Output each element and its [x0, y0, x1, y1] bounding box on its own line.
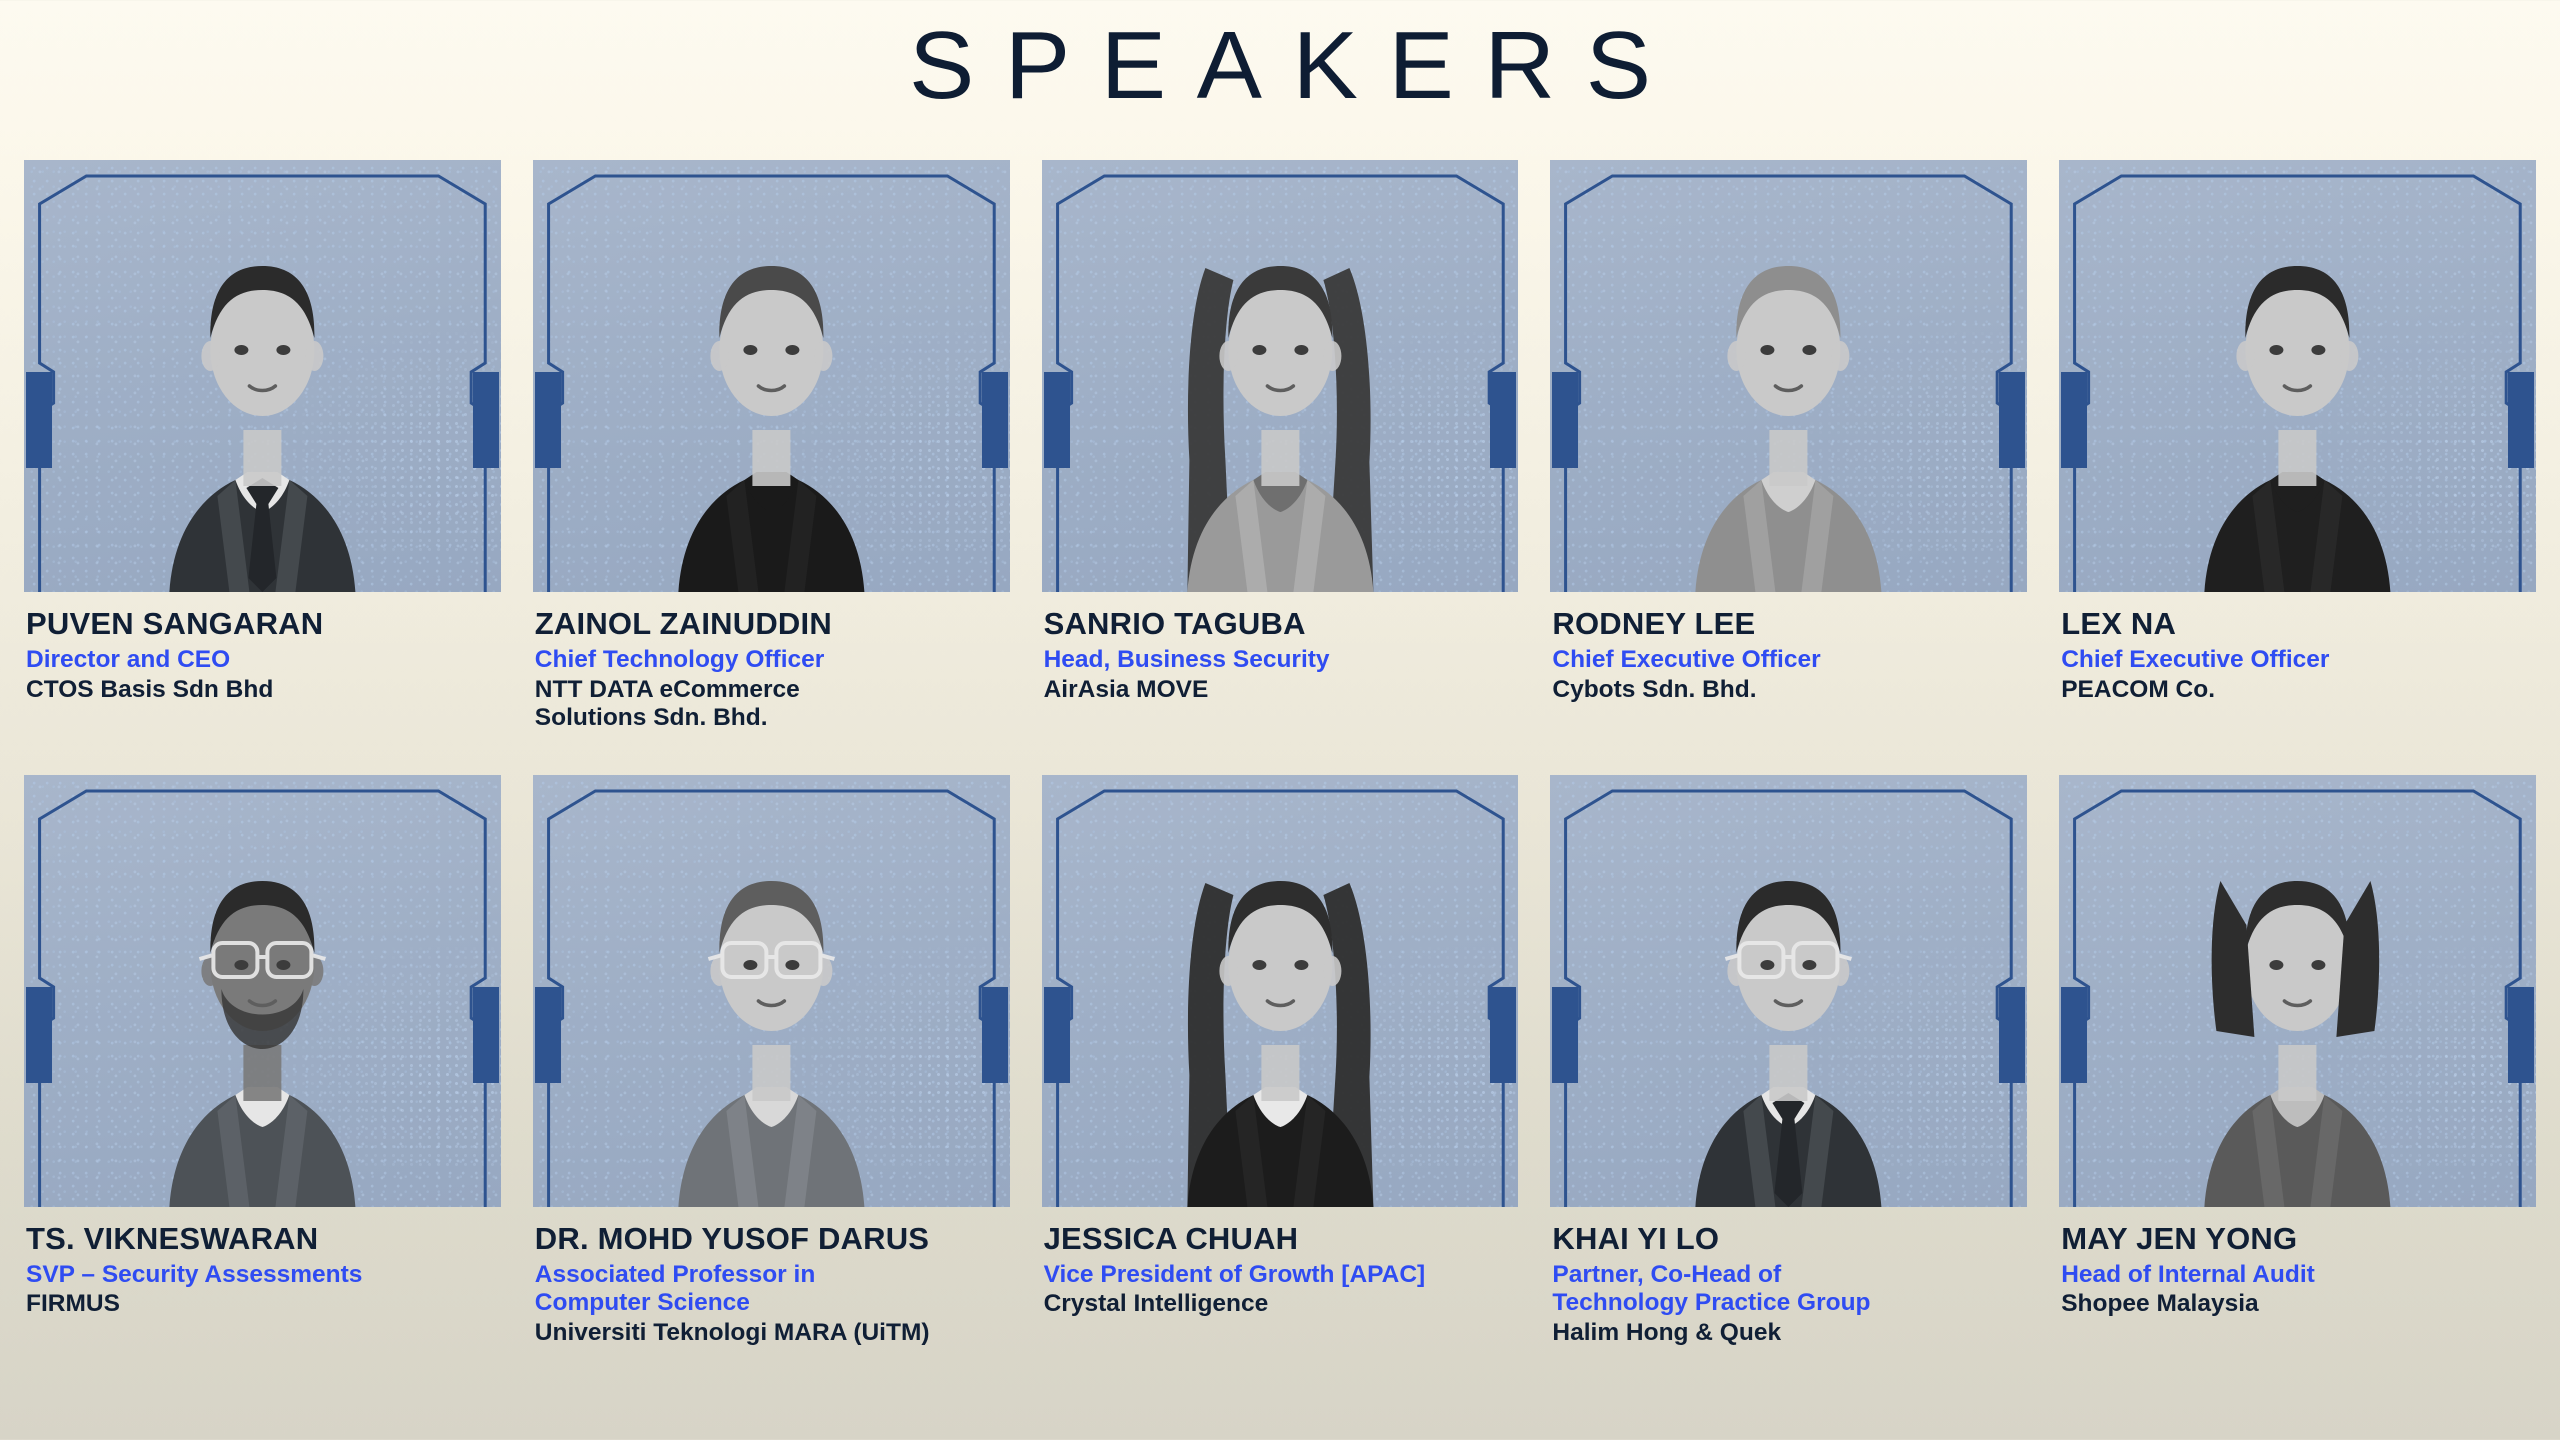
speaker-name: SANRIO TAGUBA: [1044, 608, 1517, 641]
speaker-role: Director and CEO: [26, 646, 499, 675]
accent-bar-left: [1044, 987, 1070, 1083]
speaker-organisation: CTOS Basis Sdn Bhd: [26, 676, 499, 705]
speaker-portrait-image: [24, 160, 501, 592]
speaker-photo: [533, 160, 1010, 592]
speaker-organisation: Universiti Teknologi MARA (UiTM): [535, 1319, 1008, 1348]
speaker-role: Head, Business Security: [1044, 646, 1517, 675]
accent-bar-left: [535, 372, 561, 468]
speaker-role: Partner, Co-Head ofTechnology Practice G…: [1552, 1261, 2025, 1318]
accent-bar-right: [473, 987, 499, 1083]
speaker-portrait-image: [2059, 160, 2536, 592]
accent-bar-left: [535, 987, 561, 1083]
speaker-role: Chief Executive Officer: [1552, 646, 2025, 675]
speaker-name: KHAI YI LO: [1552, 1223, 2025, 1256]
speaker-info: PUVEN SANGARAN Director and CEO CTOS Bas…: [24, 592, 501, 704]
accent-bar-left: [1552, 987, 1578, 1083]
speaker-info: RODNEY LEE Chief Executive Officer Cybot…: [1550, 592, 2027, 704]
speaker-role: Chief Executive Officer: [2061, 646, 2534, 675]
speaker-organisation: Shopee Malaysia: [2061, 1290, 2534, 1319]
speaker-card[interactable]: DR. MOHD YUSOF DARUS Associated Professo…: [533, 775, 1010, 1348]
speaker-name: DR. MOHD YUSOF DARUS: [535, 1223, 1008, 1256]
speaker-portrait-image: [1550, 775, 2027, 1207]
speaker-info: LEX NA Chief Executive Officer PEACOM Co…: [2059, 592, 2536, 704]
speaker-name: LEX NA: [2061, 608, 2534, 641]
speakers-grid: PUVEN SANGARAN Director and CEO CTOS Bas…: [24, 160, 2536, 1348]
speaker-role: Head of Internal Audit: [2061, 1261, 2534, 1290]
speaker-organisation: PEACOM Co.: [2061, 676, 2534, 705]
accent-bar-right: [2508, 987, 2534, 1083]
speaker-role: SVP – Security Assessments: [26, 1261, 499, 1290]
accent-bar-right: [1999, 372, 2025, 468]
speaker-info: ZAINOL ZAINUDDIN Chief Technology Office…: [533, 592, 1010, 733]
accent-bar-right: [1490, 372, 1516, 468]
accent-bar-left: [2061, 372, 2087, 468]
speaker-portrait-image: [533, 775, 1010, 1207]
speaker-name: RODNEY LEE: [1552, 608, 2025, 641]
speaker-name: JESSICA CHUAH: [1044, 1223, 1517, 1256]
accent-bar-right: [1999, 987, 2025, 1083]
speaker-info: KHAI YI LO Partner, Co-Head ofTechnology…: [1550, 1207, 2027, 1348]
speaker-photo: [1042, 160, 1519, 592]
speaker-organisation: Cybots Sdn. Bhd.: [1552, 676, 2025, 705]
speaker-info: DR. MOHD YUSOF DARUS Associated Professo…: [533, 1207, 1010, 1348]
accent-bar-right: [2508, 372, 2534, 468]
speaker-organisation: Crystal Intelligence: [1044, 1290, 1517, 1319]
accent-bar-right: [982, 372, 1008, 468]
speaker-name: PUVEN SANGARAN: [26, 608, 499, 641]
speaker-card[interactable]: ZAINOL ZAINUDDIN Chief Technology Office…: [533, 160, 1010, 733]
speaker-portrait-image: [1550, 160, 2027, 592]
speaker-organisation: FIRMUS: [26, 1290, 499, 1319]
speaker-info: SANRIO TAGUBA Head, Business Security Ai…: [1042, 592, 1519, 704]
speaker-card[interactable]: KHAI YI LO Partner, Co-Head ofTechnology…: [1550, 775, 2027, 1348]
speaker-info: TS. VIKNESWARAN SVP – Security Assessmen…: [24, 1207, 501, 1319]
accent-bar-left: [1044, 372, 1070, 468]
speaker-photo: [24, 775, 501, 1207]
speaker-card[interactable]: RODNEY LEE Chief Executive Officer Cybot…: [1550, 160, 2027, 733]
speaker-organisation: Halim Hong & Quek: [1552, 1319, 2025, 1348]
speaker-role: Vice President of Growth [APAC]: [1044, 1261, 1517, 1290]
speaker-info: JESSICA CHUAH Vice President of Growth […: [1042, 1207, 1519, 1319]
accent-bar-left: [1552, 372, 1578, 468]
speaker-photo: [2059, 775, 2536, 1207]
speaker-name: TS. VIKNESWARAN: [26, 1223, 499, 1256]
speaker-card[interactable]: LEX NA Chief Executive Officer PEACOM Co…: [2059, 160, 2536, 733]
accent-bar-right: [1490, 987, 1516, 1083]
speaker-card[interactable]: TS. VIKNESWARAN SVP – Security Assessmen…: [24, 775, 501, 1348]
speaker-card[interactable]: MAY JEN YONG Head of Internal Audit Shop…: [2059, 775, 2536, 1348]
speaker-name: MAY JEN YONG: [2061, 1223, 2534, 1256]
speaker-info: MAY JEN YONG Head of Internal Audit Shop…: [2059, 1207, 2536, 1319]
speaker-organisation: AirAsia MOVE: [1044, 676, 1517, 705]
speaker-portrait-image: [1042, 775, 1519, 1207]
speaker-photo: [2059, 160, 2536, 592]
speaker-photo: [1550, 775, 2027, 1207]
accent-bar-left: [26, 372, 52, 468]
speaker-photo: [24, 160, 501, 592]
speaker-role: Associated Professor inComputer Science: [535, 1261, 1008, 1318]
speaker-portrait-image: [24, 775, 501, 1207]
speaker-name: ZAINOL ZAINUDDIN: [535, 608, 1008, 641]
speaker-photo: [1550, 160, 2027, 592]
speaker-portrait-image: [1042, 160, 1519, 592]
speaker-portrait-image: [533, 160, 1010, 592]
speaker-portrait-image: [2059, 775, 2536, 1207]
accent-bar-right: [982, 987, 1008, 1083]
speaker-organisation: NTT DATA eCommerceSolutions Sdn. Bhd.: [535, 676, 1008, 733]
speaker-card[interactable]: SANRIO TAGUBA Head, Business Security Ai…: [1042, 160, 1519, 733]
speaker-photo: [1042, 775, 1519, 1207]
speaker-role: Chief Technology Officer: [535, 646, 1008, 675]
accent-bar-left: [26, 987, 52, 1083]
speaker-photo: [533, 775, 1010, 1207]
page-title: SPEAKERS: [0, 6, 2560, 126]
speaker-card[interactable]: PUVEN SANGARAN Director and CEO CTOS Bas…: [24, 160, 501, 733]
accent-bar-left: [2061, 987, 2087, 1083]
speaker-card[interactable]: JESSICA CHUAH Vice President of Growth […: [1042, 775, 1519, 1348]
accent-bar-right: [473, 372, 499, 468]
page-header: SPEAKERS: [0, 0, 2560, 148]
